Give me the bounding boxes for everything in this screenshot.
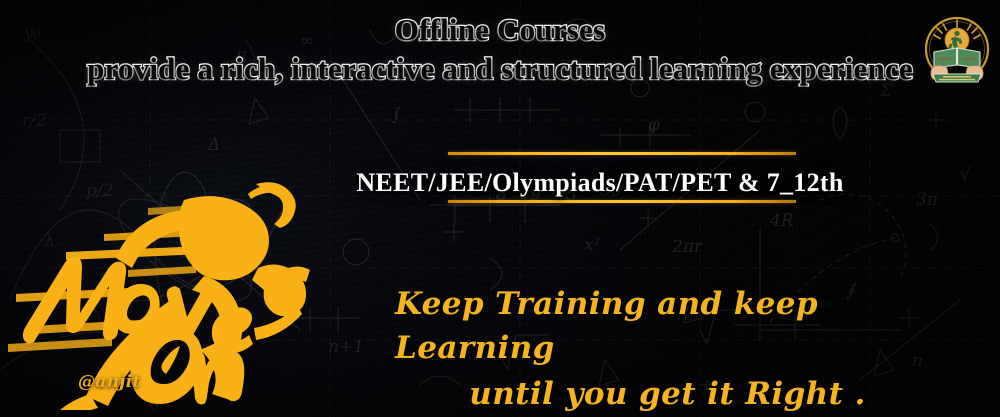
- headline-block: Offline Courses provide a rich, interact…: [0, 14, 1000, 86]
- author-handle: @anjit: [78, 372, 141, 392]
- tagline-line-1: Keep Training and keep Learning: [395, 282, 940, 370]
- institution-crest-icon: [921, 8, 993, 90]
- headline-line-2: provide a rich, interactive and structur…: [0, 53, 1000, 86]
- course-list-text: NEET/JEE/Olympiads/PAT/PET & 7_12th: [335, 168, 865, 198]
- divider-rule-top: [448, 152, 796, 155]
- move-on-logo: [8, 148, 348, 410]
- promo-banner: y₀ π ∞ 5 9 8 30 φ Σ 3π 2πr ∫ Δ p/2 r/2 d…: [0, 0, 1000, 417]
- tagline-line-2: until you get it Right .: [395, 372, 940, 416]
- headline-line-1: Offline Courses: [0, 14, 1000, 47]
- course-list-band: NEET/JEE/Olympiads/PAT/PET & 7_12th: [335, 152, 865, 203]
- tagline-block: Keep Training and keep Learning until yo…: [395, 282, 940, 416]
- divider-rule-bottom: [448, 200, 796, 203]
